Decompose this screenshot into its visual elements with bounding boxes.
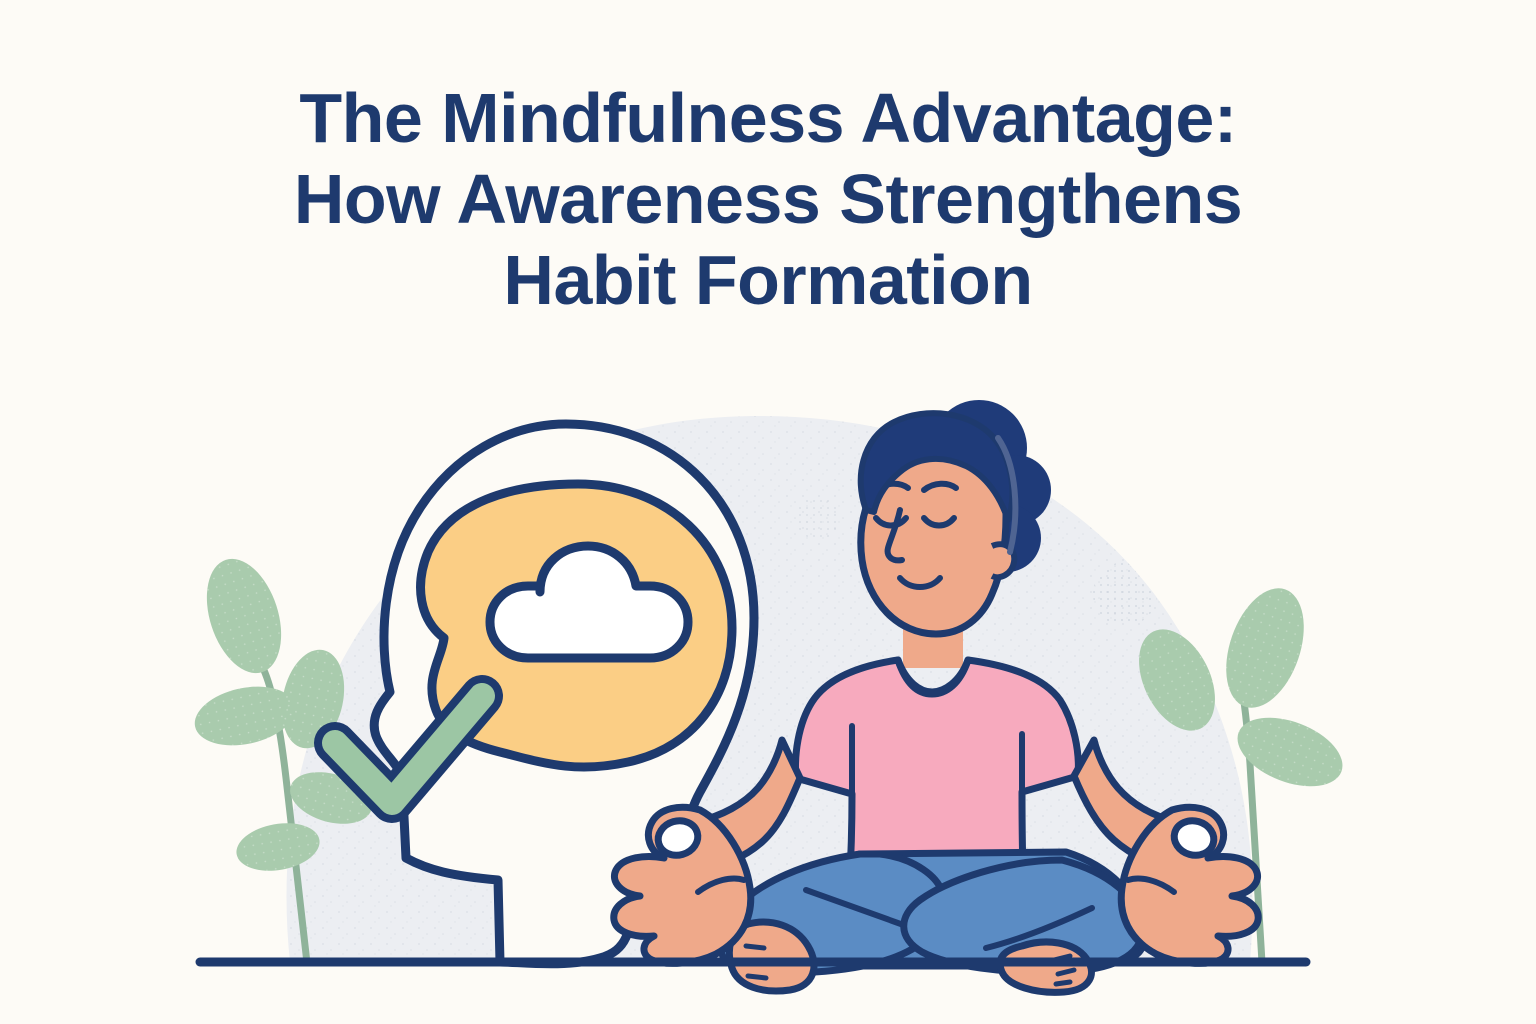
foot-right — [1000, 942, 1091, 992]
title-line-2: How Awareness Strengthens — [110, 159, 1426, 240]
illustration — [0, 380, 1536, 1024]
texture-dot-circle-2 — [1093, 562, 1157, 626]
page-title: The Mindfulness Advantage: How Awareness… — [0, 78, 1536, 322]
head-face — [861, 413, 1016, 634]
page-root: The Mindfulness Advantage: How Awareness… — [0, 0, 1536, 1024]
texture-dot-circle-4 — [796, 496, 840, 540]
title-line-1: The Mindfulness Advantage: — [110, 78, 1426, 159]
title-line-3: Habit Formation — [110, 240, 1426, 321]
